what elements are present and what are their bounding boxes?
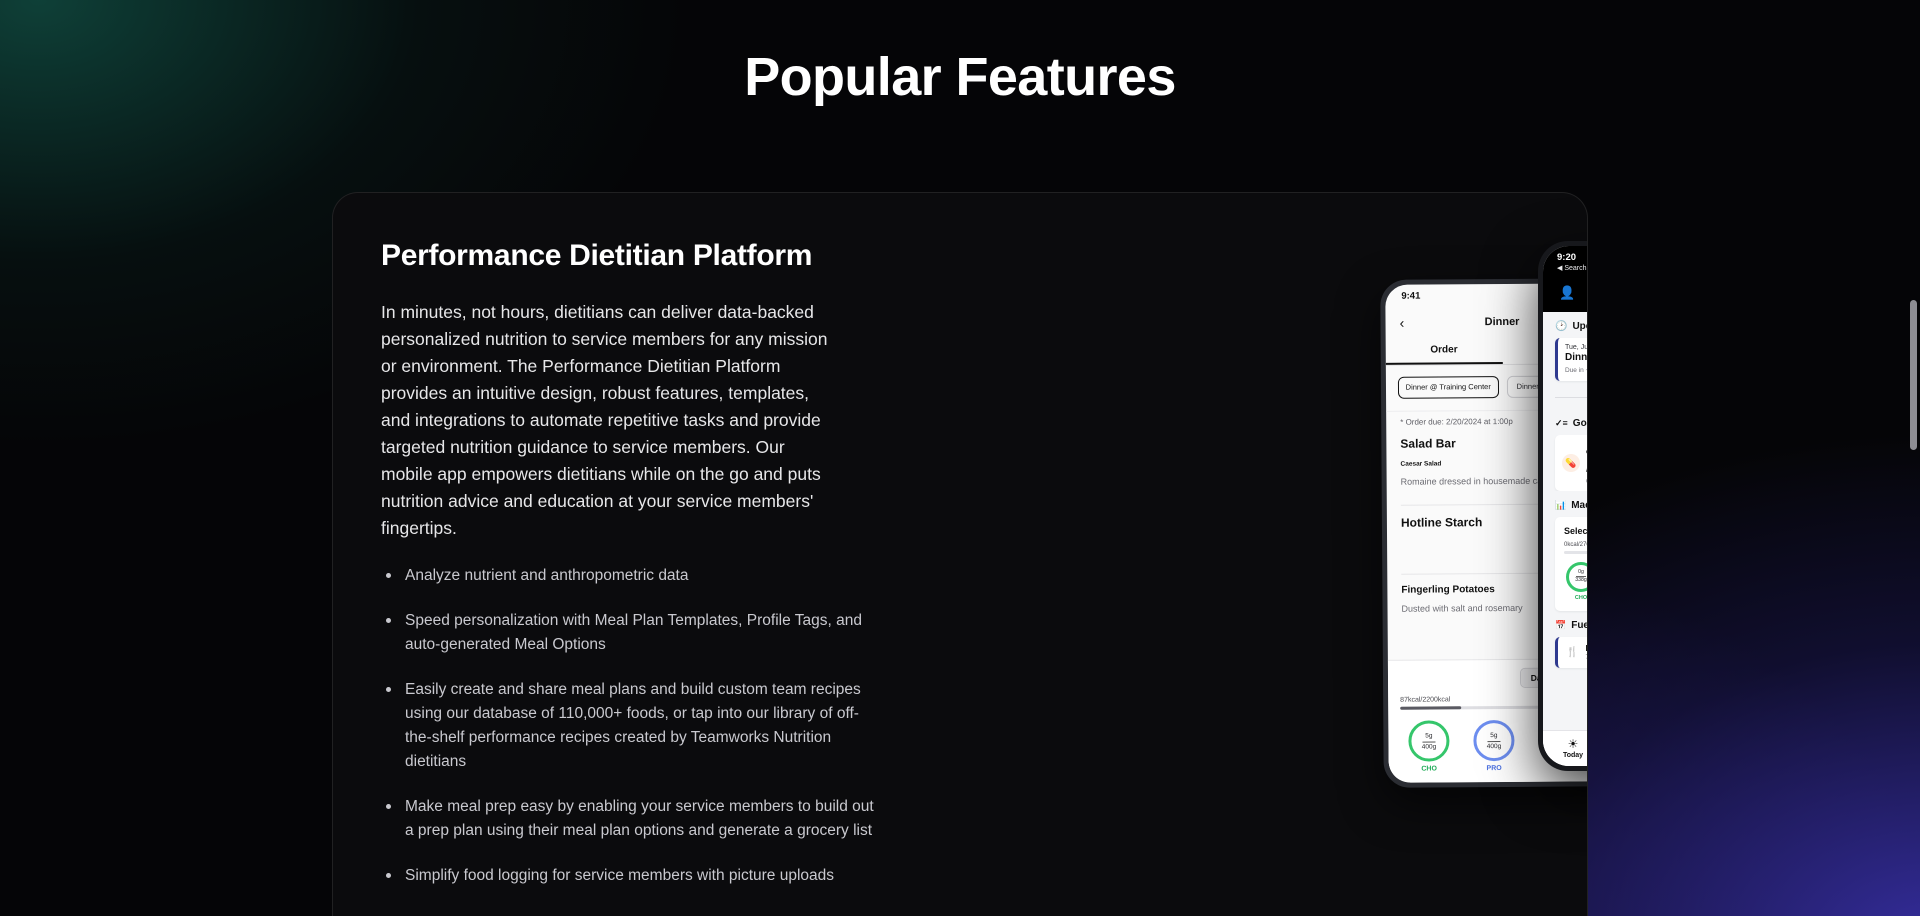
list-item: Simplify food logging for service member… <box>381 864 881 888</box>
goal-card-list: 💊 Consume protein shake after lift! Chec… <box>1543 435 1588 491</box>
checklist-icon: ✓≡ <box>1555 418 1568 429</box>
tab-today[interactable]: ☀ Today <box>1543 737 1588 759</box>
divider <box>1555 397 1588 398</box>
macro-ring-cho: 0g 338g CHO <box>1566 562 1588 601</box>
upcoming-menu-card-list: Tue, Jul 16 Dinner Due in ~ 10 hours Wed… <box>1543 338 1588 381</box>
upcoming-menus-header: 🕑 Upcoming Menus (9) See All <box>1543 312 1588 338</box>
macro-ring-cho: 5g 400g CHO <box>1408 720 1449 772</box>
list-item: Easily create and share meal plans and b… <box>381 678 881 774</box>
section-title: Macronutrients <box>1571 500 1588 511</box>
ring-target: 400g <box>1422 742 1437 751</box>
feature-bullet-list: Analyze nutrient and anthropometric data… <box>381 564 941 888</box>
list-item: Make meal prep easy by enabling your ser… <box>381 795 881 843</box>
meal-time: 7 – 8 am <box>1585 654 1588 661</box>
feature-card: Performance Dietitian Platform In minute… <box>332 192 1588 916</box>
list-item: Speed personalization with Meal Plan Tem… <box>381 609 881 657</box>
page-root: Popular Features Performance Dietitian P… <box>0 0 1920 916</box>
status-back-label: ◀ Search <box>1557 264 1587 272</box>
feature-text-column: Performance Dietitian Platform In minute… <box>381 239 941 909</box>
utensils-icon: 🍴 <box>1566 647 1578 658</box>
person-icon[interactable]: 👤 <box>1559 285 1575 301</box>
sun-icon: ☀ <box>1543 737 1588 751</box>
calorie-progress-bar <box>1564 551 1588 554</box>
phone-mockups: 9:41 ‹ Dinner Order Log Dinner @ Trainin… <box>933 193 1583 916</box>
tab-order[interactable]: Order <box>1386 336 1503 365</box>
macronutrients-card: Selection Training Plan ⋯ 0kcal/2703kcal… <box>1555 517 1588 611</box>
phone-mockup-today-screen: 9:20 ◀ Search LTE 👤 ⚡ 🔔 <box>1538 241 1588 771</box>
status-bar: 9:20 ◀ Search LTE <box>1543 246 1588 276</box>
calorie-total: 0kcal/2703kcal <box>1564 542 1588 548</box>
macro-ring-pro: 5g 400g PRO <box>1473 720 1514 772</box>
feature-description: In minutes, not hours, dietitians can de… <box>381 299 833 542</box>
goals-header: ✓≡ Goals See All <box>1543 409 1588 435</box>
page-scrollbar[interactable] <box>1910 300 1917 450</box>
section-title: Upcoming Menus (9) <box>1572 321 1588 332</box>
menu-due: Due in ~ 10 hours <box>1565 367 1588 374</box>
ring-label: CHO <box>1566 595 1588 601</box>
plan-name: Selection Training Plan <box>1564 526 1588 536</box>
ring-target: 400g <box>1487 742 1502 751</box>
day-switcher: ‹ Today 📅 › <box>1543 381 1588 409</box>
goal-subtitle: Check if completed <box>1586 479 1588 485</box>
pill-icon: 💊 <box>1562 454 1580 472</box>
ring-label: PRO <box>1474 765 1515 772</box>
menu-date: Tue, Jul 16 <box>1565 344 1588 351</box>
macro-ring-group: 0g 338g CHO 0g 169g <box>1564 562 1588 601</box>
ring-label: CHO <box>1409 765 1450 772</box>
page-title: Popular Features <box>0 46 1920 108</box>
menu-meal: Dinner <box>1565 352 1588 363</box>
app-bar: 👤 ⚡ 🔔 <box>1543 276 1588 312</box>
list-item[interactable]: 💊 Consume protein shake after lift! Chec… <box>1555 435 1588 491</box>
fueling-schedule-header: 📅 Fueling Schedule Show All Macros <box>1543 611 1588 637</box>
goal-title: Consume protein shake after lift! <box>1586 449 1588 474</box>
ring-current: 5g <box>1487 731 1500 742</box>
section-title: Goals <box>1573 418 1588 429</box>
list-item[interactable]: Tue, Jul 16 Dinner Due in ~ 10 hours <box>1555 338 1588 381</box>
list-item: Analyze nutrient and anthropometric data <box>381 564 881 588</box>
calendar-icon: 📅 <box>1555 620 1566 631</box>
feature-heading: Performance Dietitian Platform <box>381 239 941 273</box>
chip-dinner-training-center[interactable]: Dinner @ Training Center <box>1398 376 1499 399</box>
bar-chart-icon: 📊 <box>1555 500 1566 511</box>
status-time: 9:41 <box>1401 291 1420 302</box>
ring-target: 338g <box>1575 577 1587 584</box>
ring-current: 0g <box>1576 569 1586 577</box>
bottom-tab-bar: ☀ Today 📄 Planner 📖 Recipes <box>1543 730 1588 766</box>
ring-current: 5g <box>1422 731 1435 742</box>
macronutrients-header: 📊 Macronutrients <box>1543 491 1588 517</box>
meal-name: Breakfast <box>1585 644 1588 653</box>
status-time: 9:20 <box>1557 252 1587 263</box>
clock-icon: 🕑 <box>1555 321 1567 332</box>
section-title: Fueling Schedule <box>1571 620 1588 631</box>
list-item[interactable]: 🍴 Breakfast 7 – 8 am <box>1555 637 1588 668</box>
